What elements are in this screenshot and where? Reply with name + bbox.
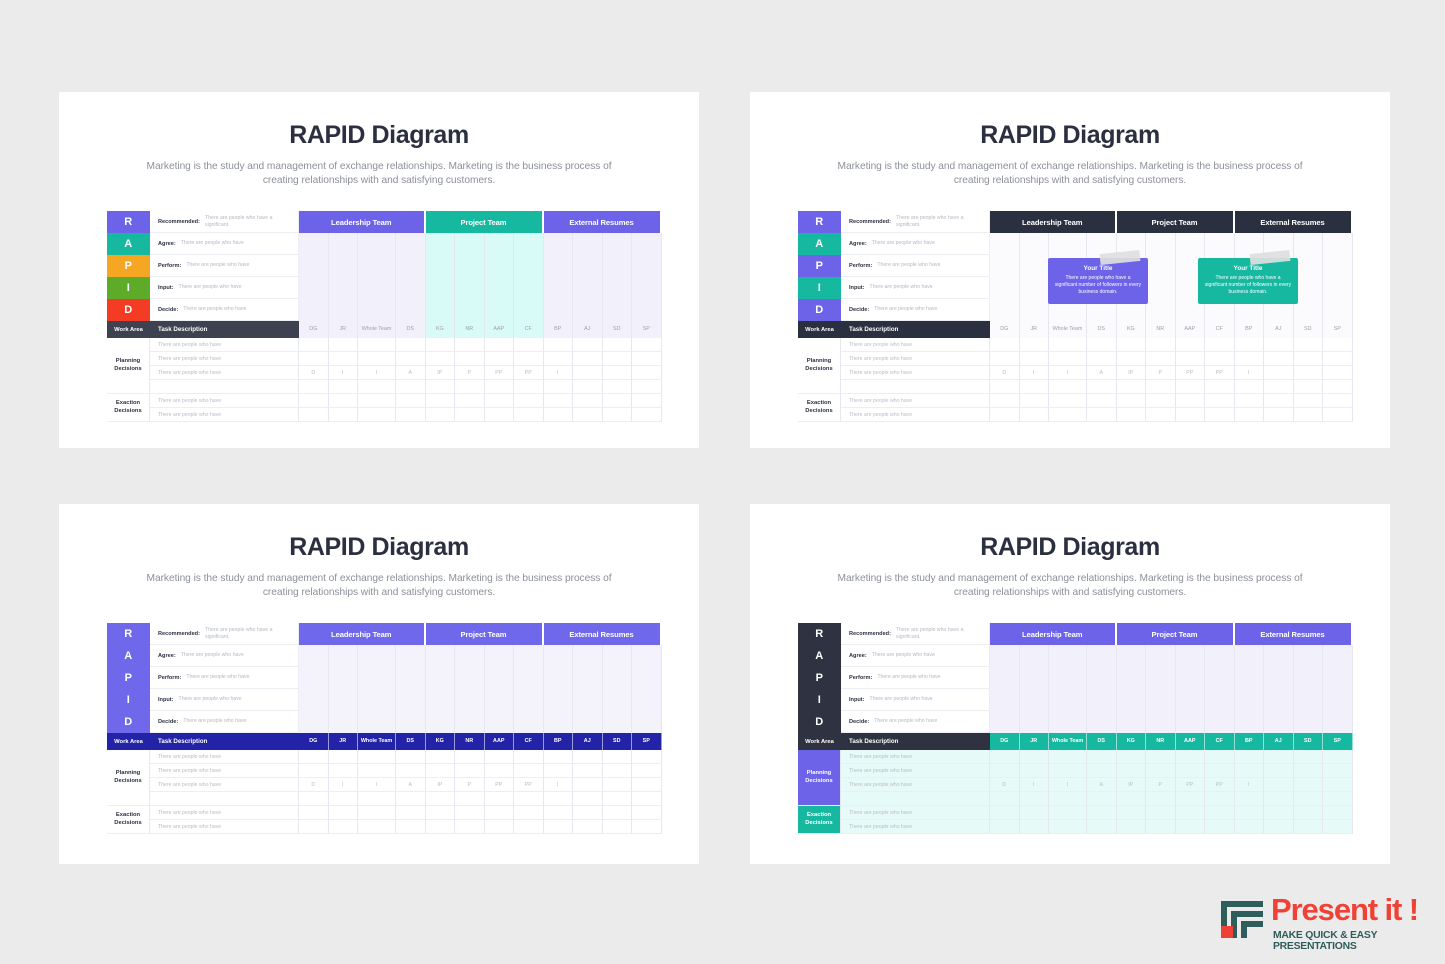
matrix-cell[interactable] [299,792,329,806]
matrix-cell[interactable] [544,792,574,806]
matrix-cell[interactable] [632,792,662,806]
matrix-cell[interactable] [990,352,1020,366]
matrix-cell[interactable] [1235,338,1265,352]
matrix-cell[interactable] [1087,750,1117,764]
matrix-cell[interactable] [1146,750,1176,764]
column-header-aj[interactable]: AJ [573,321,603,338]
matrix-cell[interactable] [455,764,485,778]
matrix-cell[interactable] [514,806,544,820]
matrix-cell[interactable] [358,820,396,834]
matrix-cell[interactable]: PP [1205,366,1235,380]
table-row[interactable]: There are people who have [150,764,662,778]
matrix-cell[interactable] [990,820,1020,834]
column-header-kg[interactable]: KG [426,321,456,338]
matrix-cell[interactable] [1323,778,1353,792]
matrix-cell[interactable] [358,408,396,422]
table-row[interactable]: There are people who have [150,750,662,764]
matrix-cell[interactable] [1294,352,1324,366]
matrix-cell[interactable] [396,380,426,394]
matrix-cell[interactable] [1117,820,1147,834]
matrix-cell[interactable] [1049,750,1087,764]
matrix-cell[interactable] [1020,750,1050,764]
table-row[interactable]: There are people who have [150,408,662,422]
matrix-cell[interactable] [573,750,603,764]
group-header-leadership-team[interactable]: Leadership Team [299,211,426,233]
matrix-cell[interactable] [1146,380,1176,394]
table-row[interactable]: There are people who have [150,338,662,352]
matrix-cell[interactable] [329,764,359,778]
matrix-cell[interactable] [329,806,359,820]
matrix-cell[interactable] [1235,352,1265,366]
matrix-cell[interactable] [990,338,1020,352]
matrix-cell[interactable] [573,352,603,366]
matrix-cell[interactable]: D [299,366,329,380]
matrix-cell[interactable] [426,352,456,366]
matrix-cell[interactable] [1117,352,1147,366]
matrix-cell[interactable] [455,408,485,422]
matrix-cell[interactable] [990,394,1020,408]
matrix-cell[interactable] [426,394,456,408]
matrix-cell[interactable] [1049,806,1087,820]
matrix-cell[interactable] [603,806,633,820]
table-row[interactable] [150,380,662,394]
matrix-cell[interactable]: I [1235,366,1265,380]
column-header-aap[interactable]: AAP [485,733,515,750]
column-header-aap[interactable]: AAP [1176,321,1206,338]
matrix-cell[interactable] [990,806,1020,820]
matrix-cell[interactable] [1264,778,1294,792]
matrix-cell[interactable] [573,338,603,352]
matrix-cell[interactable] [1264,366,1294,380]
matrix-cell[interactable] [1235,806,1265,820]
matrix-cell[interactable] [544,820,574,834]
column-header-whole-team[interactable]: Whole Team [1049,321,1087,338]
matrix-cell[interactable]: I [1020,366,1050,380]
matrix-cell[interactable] [632,394,662,408]
matrix-cell[interactable]: I [1020,778,1050,792]
matrix-cell[interactable]: A [396,778,426,792]
matrix-cell[interactable] [426,408,456,422]
matrix-cell[interactable] [573,806,603,820]
matrix-cell[interactable] [1176,352,1206,366]
matrix-cell[interactable] [573,778,603,792]
matrix-cell[interactable] [1323,806,1353,820]
matrix-cell[interactable] [1117,750,1147,764]
matrix-cell[interactable] [514,394,544,408]
matrix-cell[interactable] [1235,380,1265,394]
matrix-cell[interactable] [1020,394,1050,408]
column-header-nr[interactable]: NR [1146,321,1176,338]
matrix-cell[interactable]: I [1235,778,1265,792]
matrix-cell[interactable]: A [1087,366,1117,380]
matrix-cell[interactable] [396,338,426,352]
matrix-cell[interactable]: I [544,778,574,792]
matrix-cell[interactable] [1117,394,1147,408]
column-header-kg[interactable]: KG [426,733,456,750]
matrix-cell[interactable] [1294,366,1324,380]
matrix-cell[interactable] [1146,338,1176,352]
table-row[interactable]: There are people who have [841,806,1353,820]
matrix-cell[interactable] [1235,792,1265,806]
matrix-cell[interactable] [396,408,426,422]
matrix-cell[interactable] [1087,792,1117,806]
column-header-aap[interactable]: AAP [485,321,515,338]
matrix-cell[interactable] [1235,750,1265,764]
column-header-cf[interactable]: CF [514,733,544,750]
matrix-cell[interactable] [485,394,515,408]
column-header-ds[interactable]: DS [396,733,426,750]
matrix-cell[interactable] [1087,408,1117,422]
matrix-cell[interactable] [1264,750,1294,764]
column-header-dg[interactable]: DG [990,321,1020,338]
column-header-bp[interactable]: BP [1235,733,1265,750]
matrix-cell[interactable] [1294,778,1324,792]
matrix-cell[interactable] [299,806,329,820]
column-header-sd[interactable]: SD [1294,321,1324,338]
matrix-cell[interactable] [455,750,485,764]
matrix-cell[interactable] [1146,820,1176,834]
matrix-cell[interactable] [426,820,456,834]
matrix-cell[interactable] [455,352,485,366]
matrix-cell[interactable] [990,750,1020,764]
table-row[interactable] [841,380,1353,394]
matrix-cell[interactable] [1087,338,1117,352]
matrix-cell[interactable] [1294,820,1324,834]
matrix-cell[interactable]: IP [426,778,456,792]
matrix-cell[interactable] [329,792,359,806]
matrix-cell[interactable] [544,806,574,820]
matrix-cell[interactable] [1146,408,1176,422]
matrix-cell[interactable] [603,792,633,806]
column-header-nr[interactable]: NR [1146,733,1176,750]
table-row[interactable]: There are people who have [150,820,662,834]
matrix-cell[interactable] [1294,764,1324,778]
matrix-cell[interactable] [1020,792,1050,806]
matrix-cell[interactable] [1146,792,1176,806]
column-header-sp[interactable]: SP [632,733,662,750]
matrix-cell[interactable] [329,394,359,408]
matrix-cell[interactable] [544,408,574,422]
column-header-kg[interactable]: KG [1117,321,1147,338]
slide-1[interactable]: RAPID Diagram Marketing is the study and… [59,92,699,448]
group-header-external-resumes[interactable]: External Resumes [544,623,662,645]
matrix-cell[interactable] [396,394,426,408]
matrix-cell[interactable]: IP [426,366,456,380]
table-row[interactable] [841,792,1353,806]
column-header-cf[interactable]: CF [1205,733,1235,750]
matrix-cell[interactable] [396,820,426,834]
matrix-cell[interactable] [573,394,603,408]
matrix-cell[interactable] [455,380,485,394]
matrix-cell[interactable]: I [358,366,396,380]
matrix-cell[interactable] [514,750,544,764]
matrix-cell[interactable] [1176,750,1206,764]
matrix-cell[interactable] [1117,792,1147,806]
group-header-external-resumes[interactable]: External Resumes [1235,211,1353,233]
matrix-cell[interactable] [632,806,662,820]
group-header-project-team[interactable]: Project Team [426,623,544,645]
matrix-cell[interactable] [1235,820,1265,834]
matrix-cell[interactable] [632,778,662,792]
table-row[interactable]: There are people who have [841,338,1353,352]
matrix-cell[interactable] [1146,764,1176,778]
matrix-cell[interactable] [544,394,574,408]
matrix-cell[interactable] [485,338,515,352]
table-row[interactable]: There are people who haveDIIAIPPPPPPI [841,778,1353,792]
matrix-cell[interactable] [603,778,633,792]
matrix-cell[interactable] [1205,338,1235,352]
matrix-cell[interactable] [1205,352,1235,366]
matrix-cell[interactable] [358,394,396,408]
matrix-cell[interactable] [329,820,359,834]
matrix-cell[interactable] [1294,806,1324,820]
matrix-cell[interactable]: PP [514,366,544,380]
matrix-cell[interactable] [455,338,485,352]
matrix-cell[interactable] [426,806,456,820]
column-header-cf[interactable]: CF [514,321,544,338]
matrix-cell[interactable] [1323,792,1353,806]
matrix-cell[interactable]: D [990,778,1020,792]
matrix-cell[interactable] [1176,792,1206,806]
matrix-cell[interactable]: IP [1117,366,1147,380]
matrix-cell[interactable] [1049,380,1087,394]
matrix-cell[interactable] [990,380,1020,394]
column-header-kg[interactable]: KG [1117,733,1147,750]
matrix-cell[interactable] [573,408,603,422]
matrix-cell[interactable]: I [544,366,574,380]
slide-4[interactable]: RAPID Diagram Marketing is the study and… [750,504,1390,864]
column-header-whole-team[interactable]: Whole Team [1049,733,1087,750]
column-header-sp[interactable]: SP [1323,321,1353,338]
matrix-cell[interactable] [1235,764,1265,778]
table-row[interactable]: There are people who have [841,352,1353,366]
matrix-cell[interactable] [514,408,544,422]
column-header-whole-team[interactable]: Whole Team [358,733,396,750]
matrix-cell[interactable] [1117,764,1147,778]
column-header-ds[interactable]: DS [1087,733,1117,750]
matrix-cell[interactable] [514,764,544,778]
matrix-cell[interactable] [299,764,329,778]
matrix-cell[interactable]: P [455,366,485,380]
matrix-cell[interactable] [632,338,662,352]
group-header-project-team[interactable]: Project Team [426,211,544,233]
matrix-cell[interactable] [1049,352,1087,366]
table-row[interactable]: There are people who have [150,394,662,408]
matrix-cell[interactable] [1176,820,1206,834]
matrix-cell[interactable] [632,380,662,394]
column-header-dg[interactable]: DG [990,733,1020,750]
matrix-cell[interactable] [1020,408,1050,422]
table-row[interactable]: There are people who haveDIIAIPPPPPPI [150,778,662,792]
matrix-cell[interactable] [603,764,633,778]
matrix-cell[interactable] [514,820,544,834]
matrix-cell[interactable] [514,792,544,806]
matrix-cell[interactable] [329,408,359,422]
matrix-cell[interactable]: P [455,778,485,792]
matrix-cell[interactable] [1294,792,1324,806]
matrix-cell[interactable] [1117,806,1147,820]
matrix-cell[interactable] [990,792,1020,806]
matrix-cell[interactable] [426,764,456,778]
group-header-external-resumes[interactable]: External Resumes [1235,623,1353,645]
matrix-cell[interactable] [573,792,603,806]
matrix-cell[interactable]: I [329,366,359,380]
matrix-cell[interactable] [1323,338,1353,352]
matrix-cell[interactable] [1087,806,1117,820]
matrix-cell[interactable] [1205,394,1235,408]
matrix-cell[interactable] [514,380,544,394]
matrix-cell[interactable] [299,352,329,366]
matrix-cell[interactable] [1087,394,1117,408]
matrix-cell[interactable]: I [1049,366,1087,380]
matrix-cell[interactable] [1176,338,1206,352]
matrix-cell[interactable] [1264,352,1294,366]
column-header-nr[interactable]: NR [455,321,485,338]
column-header-nr[interactable]: NR [455,733,485,750]
matrix-cell[interactable]: PP [1176,366,1206,380]
matrix-cell[interactable] [1176,380,1206,394]
matrix-cell[interactable] [1087,820,1117,834]
matrix-cell[interactable] [299,394,329,408]
group-header-leadership-team[interactable]: Leadership Team [990,211,1117,233]
matrix-cell[interactable] [1323,380,1353,394]
column-header-bp[interactable]: BP [544,733,574,750]
matrix-cell[interactable] [485,792,515,806]
matrix-cell[interactable] [573,366,603,380]
matrix-cell[interactable] [485,408,515,422]
matrix-cell[interactable] [329,750,359,764]
matrix-cell[interactable]: PP [485,778,515,792]
matrix-cell[interactable] [632,366,662,380]
matrix-cell[interactable] [396,806,426,820]
column-header-aap[interactable]: AAP [1176,733,1206,750]
matrix-cell[interactable] [299,380,329,394]
column-header-sd[interactable]: SD [603,321,633,338]
matrix-cell[interactable] [299,408,329,422]
matrix-cell[interactable] [358,380,396,394]
matrix-cell[interactable] [299,820,329,834]
matrix-cell[interactable] [1264,820,1294,834]
matrix-cell[interactable] [1146,394,1176,408]
matrix-cell[interactable]: PP [514,778,544,792]
matrix-cell[interactable]: I [1049,778,1087,792]
matrix-cell[interactable] [329,352,359,366]
matrix-cell[interactable] [455,806,485,820]
matrix-cell[interactable] [1146,352,1176,366]
matrix-cell[interactable] [1205,380,1235,394]
group-header-external-resumes[interactable]: External Resumes [544,211,662,233]
matrix-cell[interactable]: P [1146,366,1176,380]
matrix-cell[interactable] [358,338,396,352]
matrix-cell[interactable] [485,750,515,764]
column-header-dg[interactable]: DG [299,733,329,750]
matrix-cell[interactable] [1205,408,1235,422]
matrix-cell[interactable] [1049,820,1087,834]
matrix-cell[interactable]: A [1087,778,1117,792]
matrix-cell[interactable] [603,820,633,834]
matrix-cell[interactable] [1205,792,1235,806]
matrix-cell[interactable] [358,806,396,820]
matrix-cell[interactable]: I [358,778,396,792]
matrix-cell[interactable] [1294,750,1324,764]
matrix-cell[interactable]: I [329,778,359,792]
matrix-cell[interactable] [1049,408,1087,422]
matrix-cell[interactable] [990,408,1020,422]
matrix-cell[interactable] [1176,408,1206,422]
column-header-jr[interactable]: JR [1020,321,1050,338]
matrix-cell[interactable] [603,338,633,352]
matrix-cell[interactable]: PP [485,366,515,380]
matrix-cell[interactable] [329,380,359,394]
matrix-cell[interactable] [1323,366,1353,380]
matrix-cell[interactable] [358,352,396,366]
matrix-cell[interactable] [1049,394,1087,408]
matrix-cell[interactable] [603,750,633,764]
matrix-cell[interactable]: D [990,366,1020,380]
matrix-cell[interactable] [1323,750,1353,764]
column-header-bp[interactable]: BP [1235,321,1265,338]
matrix-cell[interactable] [358,750,396,764]
table-row[interactable]: There are people who have [841,764,1353,778]
group-header-leadership-team[interactable]: Leadership Team [990,623,1117,645]
matrix-cell[interactable] [1264,408,1294,422]
matrix-cell[interactable] [1323,764,1353,778]
matrix-cell[interactable] [1176,394,1206,408]
column-header-sd[interactable]: SD [1294,733,1324,750]
matrix-cell[interactable] [544,380,574,394]
matrix-cell[interactable] [632,408,662,422]
matrix-cell[interactable] [485,352,515,366]
matrix-cell[interactable] [573,764,603,778]
matrix-cell[interactable] [1087,352,1117,366]
matrix-cell[interactable] [1323,820,1353,834]
matrix-cell[interactable] [358,764,396,778]
column-header-jr[interactable]: JR [329,321,359,338]
table-row[interactable] [150,792,662,806]
matrix-cell[interactable] [1205,750,1235,764]
table-row[interactable]: There are people who have [150,806,662,820]
matrix-cell[interactable] [1264,394,1294,408]
matrix-cell[interactable] [603,352,633,366]
matrix-cell[interactable] [1323,394,1353,408]
column-header-jr[interactable]: JR [329,733,359,750]
matrix-cell[interactable] [1323,408,1353,422]
matrix-cell[interactable] [1264,380,1294,394]
matrix-cell[interactable] [299,750,329,764]
table-row[interactable]: There are people who have [150,352,662,366]
matrix-cell[interactable] [1264,806,1294,820]
matrix-cell[interactable] [1294,394,1324,408]
matrix-cell[interactable] [1087,380,1117,394]
sticky-note-1[interactable]: Your TitleThere are people who have a si… [1048,258,1148,304]
matrix-cell[interactable] [1235,408,1265,422]
matrix-cell[interactable] [1087,764,1117,778]
matrix-cell[interactable] [1264,764,1294,778]
column-header-cf[interactable]: CF [1205,321,1235,338]
matrix-cell[interactable] [426,750,456,764]
matrix-cell[interactable] [1264,338,1294,352]
matrix-cell[interactable]: IP [1117,778,1147,792]
column-header-aj[interactable]: AJ [1264,733,1294,750]
matrix-cell[interactable] [544,764,574,778]
matrix-cell[interactable] [455,394,485,408]
matrix-cell[interactable] [1323,352,1353,366]
matrix-cell[interactable] [573,820,603,834]
matrix-cell[interactable] [396,764,426,778]
matrix-cell[interactable] [1117,380,1147,394]
matrix-cell[interactable]: PP [1176,778,1206,792]
matrix-cell[interactable] [396,352,426,366]
